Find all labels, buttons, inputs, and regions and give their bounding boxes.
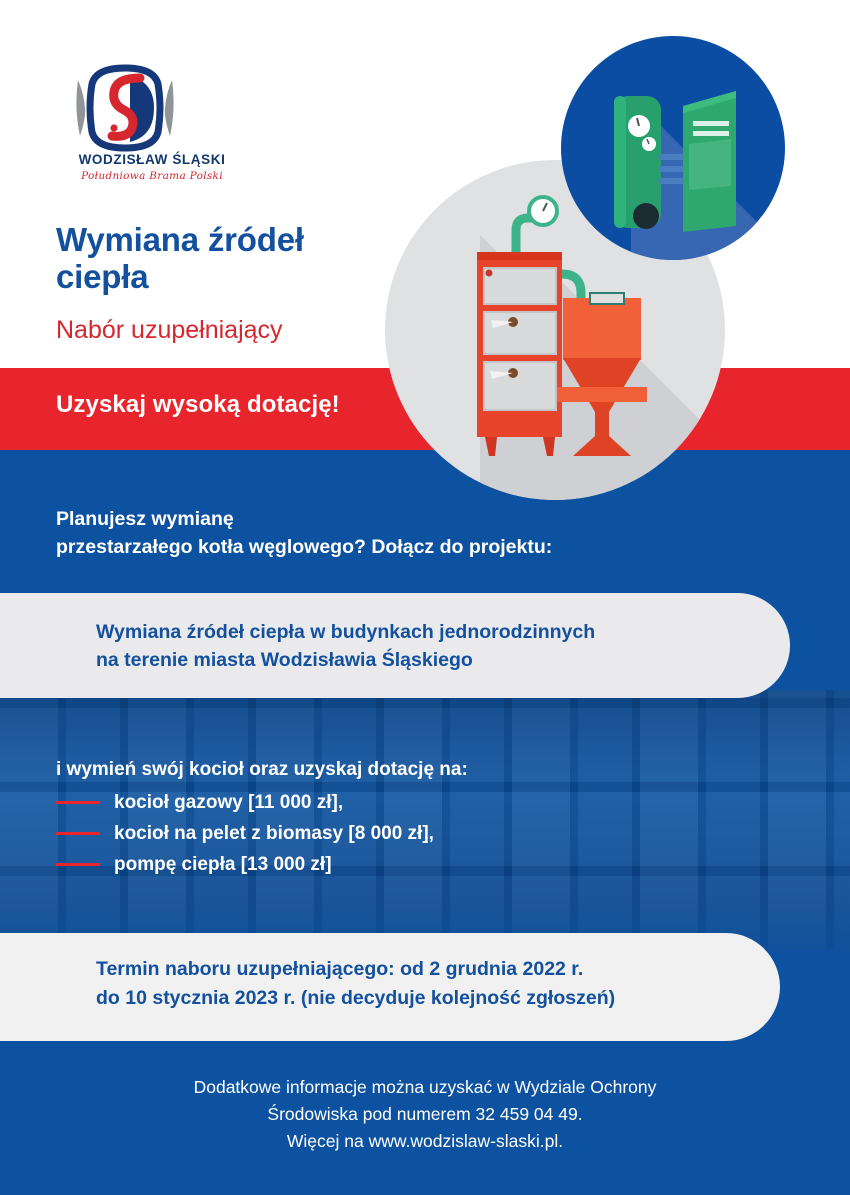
logo-city-name: WODZISŁAW ŚLĄSKI: [52, 152, 252, 167]
list-item: kocioł na pelet z biomasy [8 000 zł],: [56, 818, 676, 849]
intro-question-line1: Planujesz wymianę: [56, 505, 696, 533]
page-title-line2: ciepła: [56, 259, 456, 296]
poster-root: WODZISŁAW ŚLĄSKI Południowa Brama Polski…: [0, 0, 850, 1195]
footer-line1: Dodatkowe informacje można uzyskać w Wyd…: [0, 1074, 850, 1101]
grant-item-label: kocioł gazowy [11 000 zł],: [114, 792, 343, 814]
project-name-line1: Wymiana źródeł ciepła w budynkach jednor…: [96, 618, 756, 646]
page-subtitle: Nabór uzupełniający: [56, 317, 476, 345]
grants-list: kocioł gazowy [11 000 zł], kocioł na pel…: [56, 787, 676, 880]
footer-contact-info: Dodatkowe informacje można uzyskać w Wyd…: [0, 1074, 850, 1155]
intro-question: Planujesz wymianę przestarzałego kotła w…: [56, 505, 696, 562]
deadline-line1: Termin naboru uzupełniającego: od 2 grud…: [96, 955, 776, 984]
dash-bullet-icon: [56, 863, 100, 866]
deadline-line2: do 10 stycznia 2023 r. (nie decyduje kol…: [96, 984, 776, 1013]
grant-item-label: kocioł na pelet z biomasy [8 000 zł],: [114, 823, 434, 845]
grants-intro-text: i wymień swój kocioł oraz uzyskaj dotacj…: [56, 759, 468, 781]
city-logo: WODZISŁAW ŚLĄSKI Południowa Brama Polski: [52, 62, 252, 182]
intro-question-line2: przestarzałego kotła węglowego? Dołącz d…: [56, 533, 696, 561]
page-title-line1: Wymiana źródeł: [56, 222, 456, 259]
logo-tagline: Południowa Brama Polski: [52, 170, 252, 182]
footer-line3: Więcej na www.wodzislaw-slaski.pl.: [0, 1128, 850, 1155]
deadline-text: Termin naboru uzupełniającego: od 2 grud…: [96, 955, 776, 1014]
list-item: kocioł gazowy [11 000 zł],: [56, 787, 676, 818]
project-name-line2: na terenie miasta Wodzisławia Śląskiego: [96, 646, 756, 674]
dash-bullet-icon: [56, 801, 100, 804]
dash-bullet-icon: [56, 832, 100, 835]
list-item: pompę ciepła [13 000 zł]: [56, 849, 676, 880]
modern-gas-boiler-icon: [561, 36, 785, 260]
project-name-text: Wymiana źródeł ciepła w budynkach jednor…: [96, 618, 756, 675]
grant-banner-text: Uzyskaj wysoką dotację!: [56, 391, 340, 419]
page-title: Wymiana źródeł ciepła: [56, 222, 456, 296]
wodzislaw-hexagon-emblem-icon: [70, 62, 180, 154]
modern-boiler-circle-background: [561, 36, 785, 260]
footer-line2: Środowiska pod numerem 32 459 04 49.: [0, 1101, 850, 1128]
grant-item-label: pompę ciepła [13 000 zł]: [114, 854, 332, 876]
